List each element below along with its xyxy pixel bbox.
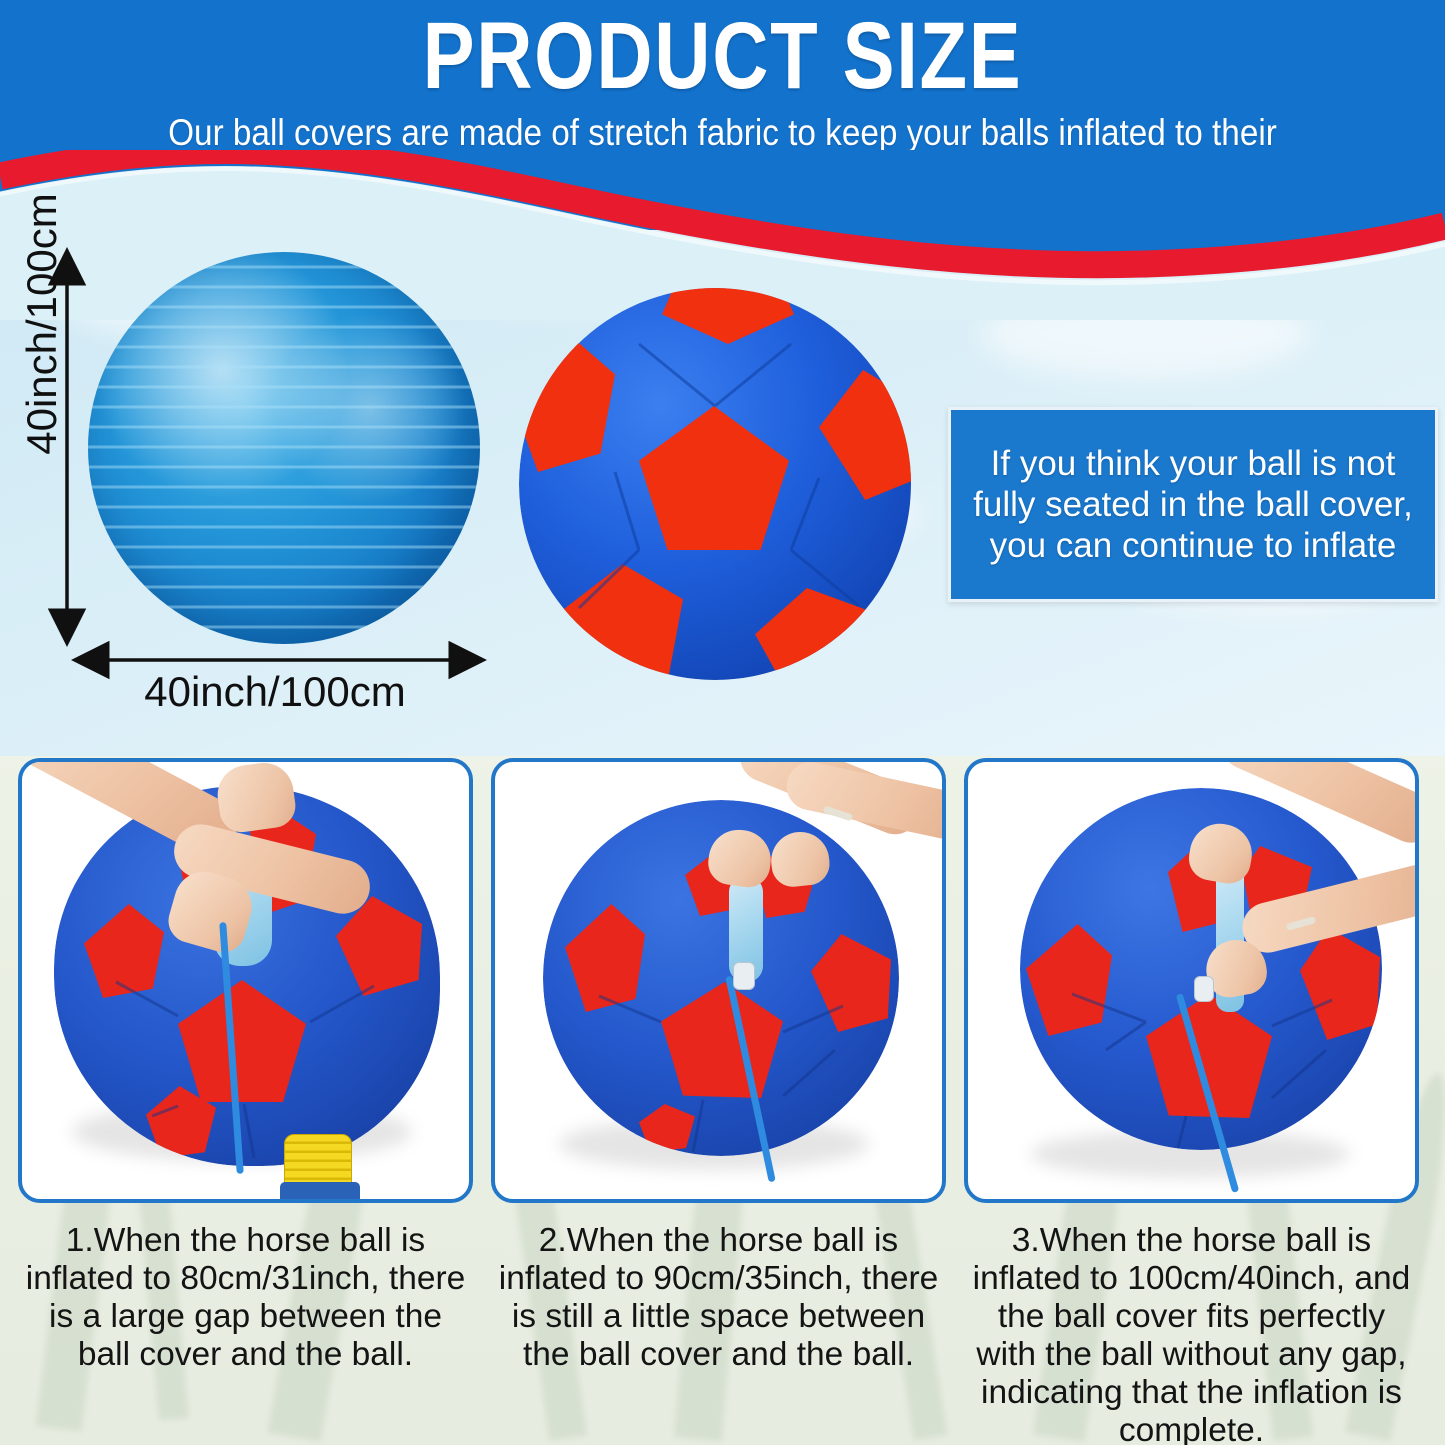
caption-step-1: 1.When the horse ball is inflated to 80c… — [18, 1216, 473, 1445]
page-title: PRODUCT SIZE — [130, 8, 1315, 104]
dimension-arrows — [0, 228, 520, 698]
ball-cover-image — [519, 288, 911, 680]
dimension-label-vertical: 40inch/100cm — [18, 174, 66, 474]
inflate-callout-box: If you think your ball is not fully seat… — [948, 407, 1438, 602]
panel1-pump-base — [280, 1182, 360, 1203]
panel3-valve — [1194, 976, 1214, 1002]
inflate-callout-text: If you think your ball is not fully seat… — [951, 443, 1435, 566]
panel-step-2 — [491, 758, 946, 1203]
cover-seams — [519, 288, 911, 680]
step-panels — [0, 758, 1445, 1210]
panel2-valve — [733, 962, 755, 990]
infographic-root: PRODUCT SIZE Our ball covers are made of… — [0, 0, 1445, 1445]
header-subtitle: Our ball covers are made of stretch fabr… — [117, 112, 1328, 196]
step-captions: 1.When the horse ball is inflated to 80c… — [0, 1216, 1445, 1445]
dimension-label-horizontal: 40inch/100cm — [60, 668, 490, 716]
panel-step-1 — [18, 758, 473, 1203]
caption-step-2: 2.When the horse ball is inflated to 90c… — [491, 1216, 946, 1445]
caption-step-3: 3.When the horse ball is inflated to 100… — [964, 1216, 1419, 1445]
panel-step-3 — [964, 758, 1419, 1203]
panel1-hand-right — [214, 759, 298, 835]
header-banner: PRODUCT SIZE Our ball covers are made of… — [0, 0, 1445, 230]
